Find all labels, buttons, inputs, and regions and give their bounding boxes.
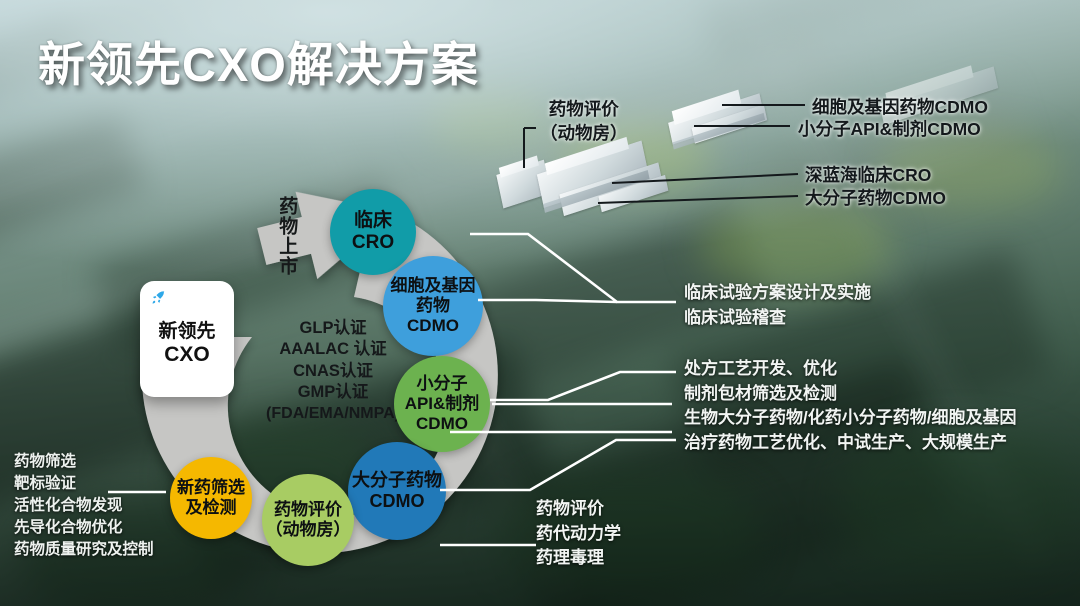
bubble-drug-evaluation-line2: （动物房） (266, 520, 351, 540)
detail-discovery-line5: 药物质量研究及控制 (14, 539, 154, 561)
bubble-clinical-cro-line2: CRO (352, 232, 394, 254)
bubble-small-molecule-cdmo-line3: CDMO (416, 414, 468, 434)
detail-drug-eval-line3: 药理毒理 (536, 546, 621, 571)
detail-formulation-line3: 生物大分子药物/化药小分子药物/细胞及基因 (684, 406, 1016, 431)
bubble-cell-gene-cdmo[interactable]: 细胞及基因 药物 CDMO (383, 256, 483, 356)
callout-label-cell-gene-cdmo: 细胞及基因药物CDMO (812, 95, 988, 119)
ring-arrow-label: 药物上市 (276, 196, 297, 276)
building-label-drug-evaluation: 药物评价 （动物房） (540, 98, 628, 145)
brand-card-cxo[interactable]: 新领先 CXO (140, 281, 234, 397)
detail-group-clinical-trial: 临床试验方案设计及实施 临床试验稽查 (684, 281, 871, 330)
detail-clinical-trial-line2: 临床试验稽查 (684, 306, 871, 331)
brand-card-line1: 新领先 (158, 321, 215, 343)
detail-clinical-trial-line1: 临床试验方案设计及实施 (684, 281, 871, 306)
bubble-large-molecule-cdmo-line2: CDMO (370, 491, 425, 512)
detail-group-drug-evaluation: 药物评价 药代动力学 药理毒理 (536, 497, 621, 571)
slide-canvas: 新领先CXO解决方案 细胞及基因药物CDMO 小分子API&制剂CDMO 深蓝海… (0, 0, 1080, 606)
bubble-cell-gene-cdmo-line2: 药物 (416, 296, 450, 316)
detail-group-formulation-process: 处方工艺开发、优化 制剂包材筛选及检测 生物大分子药物/化药小分子药物/细胞及基… (684, 357, 1016, 456)
detail-discovery-line2: 靶标验证 (14, 473, 154, 495)
detail-discovery-line3: 活性化合物发现 (14, 495, 154, 517)
detail-group-discovery: 药物筛选 靶标验证 活性化合物发现 先导化合物优化 药物质量研究及控制 (14, 451, 154, 561)
detail-drug-eval-line1: 药物评价 (536, 497, 621, 522)
bubble-large-molecule-cdmo[interactable]: 大分子药物 CDMO (348, 442, 446, 540)
page-title: 新领先CXO解决方案 (38, 26, 479, 95)
rocket-icon (149, 289, 167, 307)
bubble-new-drug-screening-line2: 及检测 (186, 498, 237, 518)
building-label-line1: 药物评价 (540, 98, 628, 122)
callout-label-large-molecule-cdmo: 大分子药物CDMO (805, 186, 946, 210)
bubble-drug-evaluation-line1: 药物评价 (274, 500, 342, 520)
bubble-clinical-cro[interactable]: 临床 CRO (330, 189, 416, 275)
detail-discovery-line1: 药物筛选 (14, 451, 154, 473)
detail-formulation-line1: 处方工艺开发、优化 (684, 357, 1016, 382)
bubble-new-drug-screening-line1: 新药筛选 (177, 478, 245, 498)
bubble-large-molecule-cdmo-line1: 大分子药物 (352, 470, 442, 491)
bubble-drug-evaluation[interactable]: 药物评价 （动物房） (262, 474, 354, 566)
bubble-small-molecule-cdmo-line1: 小分子 (417, 374, 468, 394)
bubble-clinical-cro-line1: 临床 (354, 210, 392, 232)
detail-drug-eval-line2: 药代动力学 (536, 522, 621, 547)
bubble-cell-gene-cdmo-line3: CDMO (407, 316, 459, 336)
bubble-small-molecule-cdmo[interactable]: 小分子 API&制剂 CDMO (394, 356, 490, 452)
detail-discovery-line4: 先导化合物优化 (14, 517, 154, 539)
callout-label-shenlanhai-clinical-cro: 深蓝海临床CRO (805, 163, 931, 187)
brand-card-line2: CXO (164, 343, 210, 367)
building-label-line2: （动物房） (540, 122, 628, 146)
bubble-cell-gene-cdmo-line1: 细胞及基因 (391, 276, 476, 296)
detail-formulation-line2: 制剂包材筛选及检测 (684, 382, 1016, 407)
bubble-new-drug-screening[interactable]: 新药筛选 及检测 (170, 457, 252, 539)
bubble-small-molecule-cdmo-line2: API&制剂 (405, 394, 480, 414)
detail-formulation-line4: 治疗药物工艺优化、中试生产、大规模生产 (684, 431, 1016, 456)
callout-label-small-molecule-api-cdmo: 小分子API&制剂CDMO (798, 117, 981, 141)
